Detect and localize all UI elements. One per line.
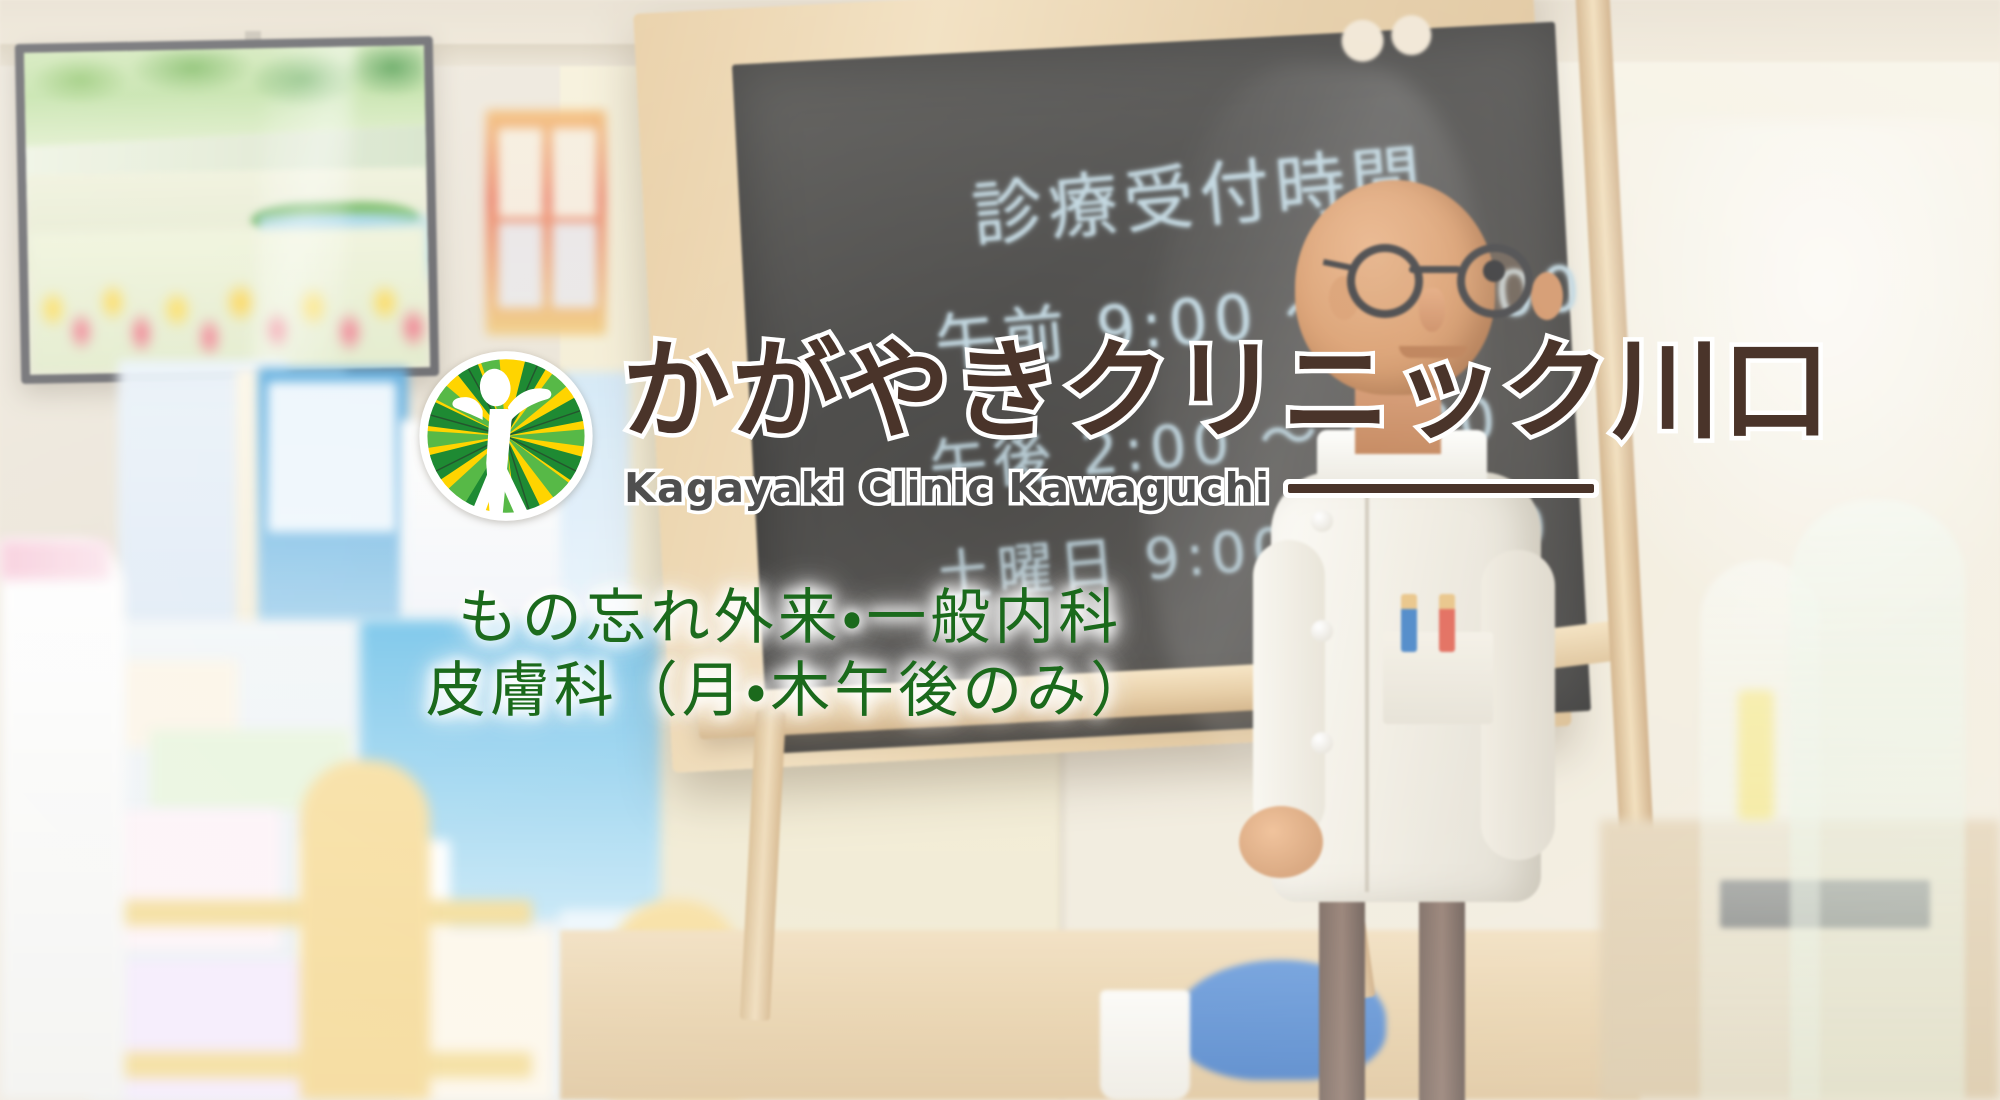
brand-rule-line [1288, 484, 1594, 493]
paper-cup [1100, 990, 1190, 1100]
brochure-card [110, 810, 280, 950]
tv-tulips [27, 225, 430, 374]
poster-6-photo-a [498, 128, 543, 218]
chair-back [300, 760, 430, 1100]
figurine-nose [1419, 288, 1445, 332]
wall-mounted-television [15, 36, 439, 384]
background-photo: 診療受付時間 午前 9:00 ～ 12:00 午後 2:00 ～ 6:00 土曜… [0, 0, 2000, 1100]
round-glasses-icon [1339, 244, 1555, 302]
figurine-leg-left [1319, 890, 1365, 1100]
figurine-eye [1483, 260, 1505, 282]
figurine-hand [1239, 806, 1323, 878]
brochure-card [120, 960, 310, 1100]
sunburst-person-logo-icon[interactable] [416, 348, 596, 524]
poster-3-inner [268, 382, 396, 532]
hero-banner: 診療受付時間 午前 9:00 ～ 12:00 午後 2:00 ～ 6:00 土曜… [0, 0, 2000, 1100]
poster-6-photo-c [498, 222, 543, 308]
tagline-line-1: もの忘れ外来・一般内科 [0, 582, 1580, 655]
tagline-line-2: 皮膚科（月・木午後のみ） [0, 655, 1580, 728]
glasses-bridge [1409, 266, 1461, 273]
brand-romaji-row: Kagayaki Clinic Kawaguchi [624, 462, 1594, 514]
pink-notice [0, 540, 110, 580]
services-tagline: もの忘れ外来・一般内科 皮膚科（月・木午後のみ） [0, 582, 1580, 728]
glasses-lens-left [1347, 244, 1423, 318]
figurine-leg-right [1419, 890, 1465, 1100]
tv-trees [24, 45, 426, 136]
brand-name-romaji[interactable]: Kagayaki Clinic Kawaguchi [624, 468, 1270, 509]
coat-button [1311, 732, 1333, 754]
brand-name-ja[interactable]: かがやきクリニック川口 [622, 338, 1832, 446]
